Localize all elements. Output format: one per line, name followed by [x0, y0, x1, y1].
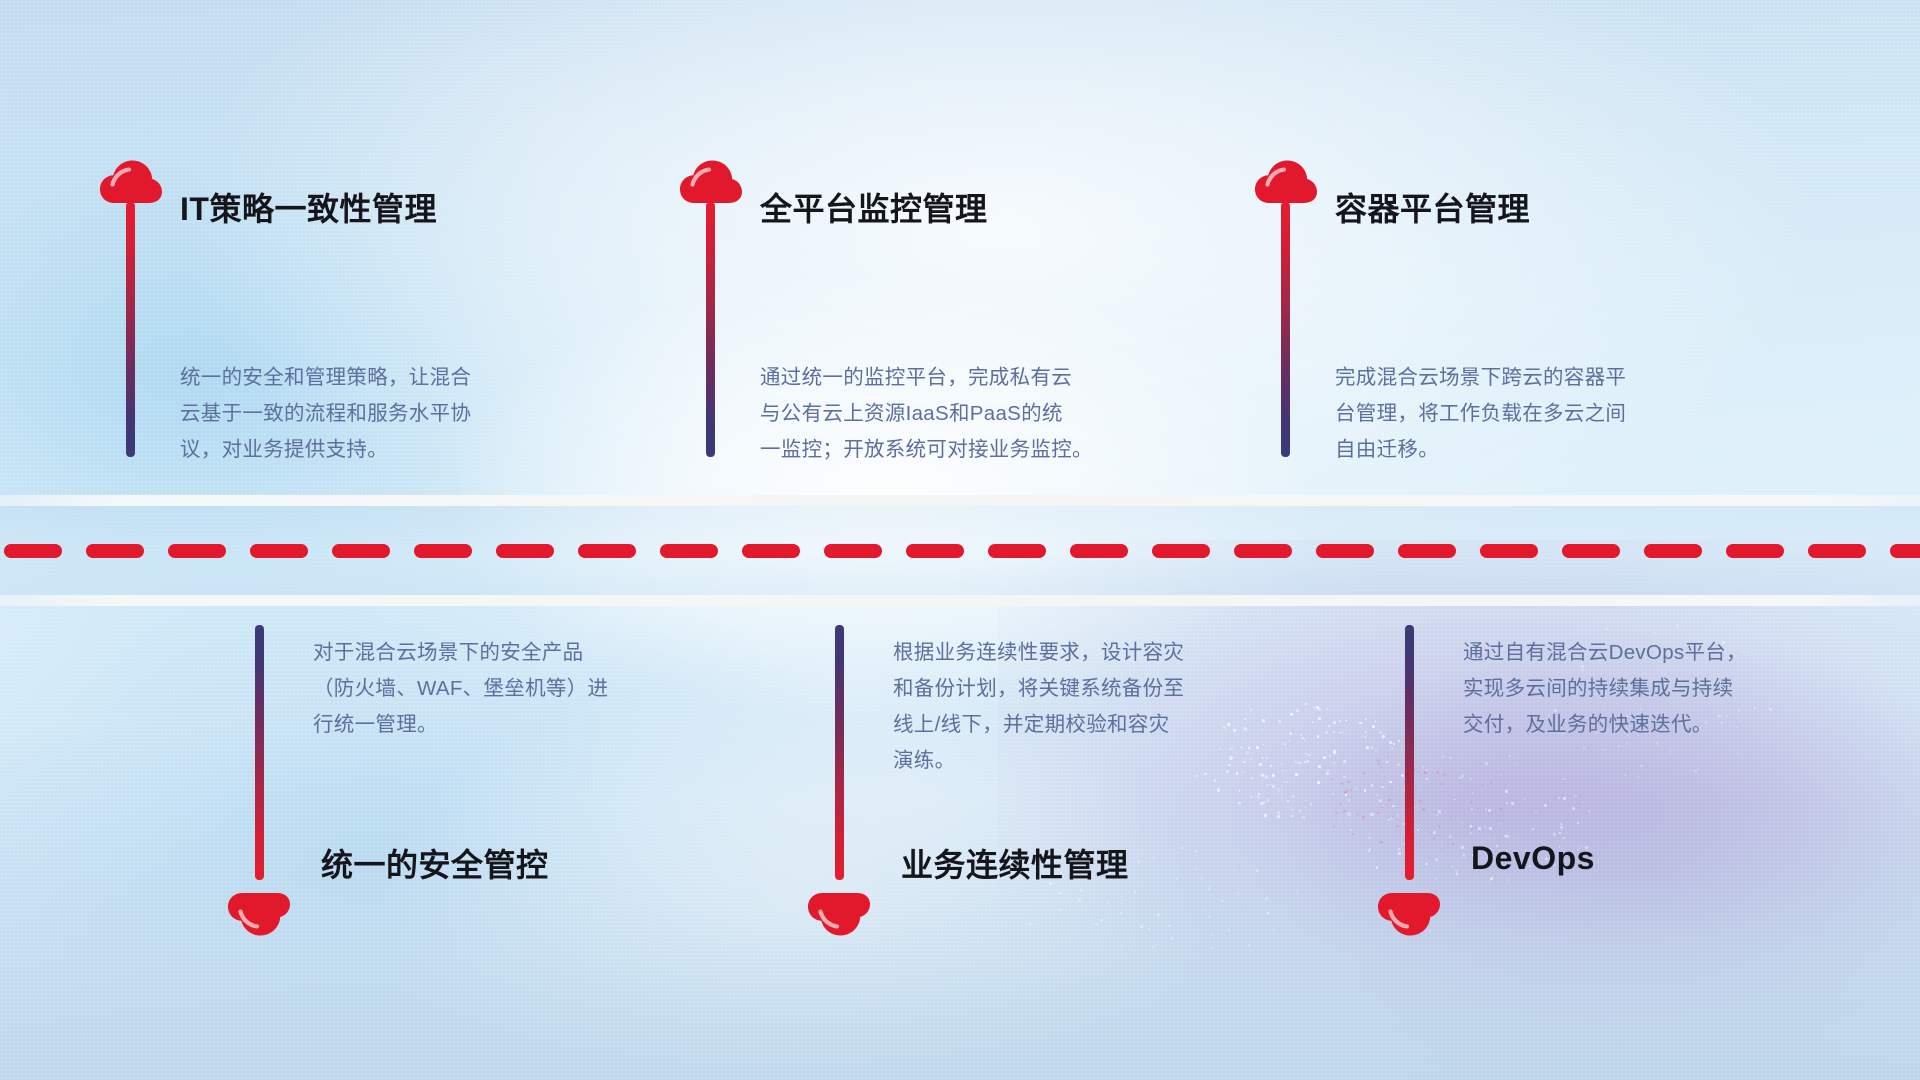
background-speck [1251, 796, 1252, 797]
background-speck [1335, 812, 1337, 814]
background-speck [1527, 834, 1528, 835]
background-speck [1373, 748, 1374, 749]
background-speck [1272, 785, 1274, 787]
background-speck [1470, 832, 1472, 834]
road-dash-segment [1890, 544, 1920, 558]
background-speck [1347, 812, 1350, 815]
road-dash-segment [86, 544, 144, 558]
background-speck [1181, 847, 1183, 849]
background-speck [1210, 946, 1213, 949]
background-speck [1248, 944, 1250, 946]
background-speck [1377, 759, 1379, 761]
background-speck [1500, 823, 1502, 825]
background-speck [1264, 814, 1267, 817]
background-speck [1016, 911, 1017, 912]
item-body: 对于混合云场景下的安全产品 （防火墙、WAF、堡垒机等）进 行统一管理。 [313, 635, 743, 743]
road-dash-segment [578, 544, 636, 558]
road-dash-segment [742, 544, 800, 558]
background-speck [1176, 878, 1178, 880]
road-dash-segment [1152, 544, 1210, 558]
background-speck [1372, 725, 1375, 728]
background-speck [1121, 902, 1123, 904]
infographic-canvas: IT策略一致性管理 统一的安全和管理策略，让混合 云基于一致的流程和服务水平协 … [0, 0, 1920, 1080]
background-speck [1323, 756, 1326, 759]
background-speck [1343, 810, 1346, 813]
background-speck [1195, 868, 1198, 871]
background-speck [1388, 819, 1390, 821]
background-speck [1565, 797, 1566, 798]
road-dash-segment [1562, 544, 1620, 558]
background-speck [1433, 831, 1436, 834]
background-speck [1558, 797, 1560, 799]
background-speck [1296, 892, 1298, 894]
item-title: 统一的安全管控 [321, 840, 549, 886]
background-speck [1178, 852, 1179, 853]
background-speck [1424, 771, 1427, 774]
background-speck [1456, 873, 1457, 874]
background-speck [1153, 856, 1155, 858]
background-speck [1263, 801, 1265, 803]
background-speck [1138, 861, 1140, 863]
background-speck [1676, 624, 1679, 627]
background-speck [1391, 747, 1393, 749]
background-speck [1364, 789, 1366, 791]
background-speck [1148, 927, 1150, 929]
background-speck [1265, 897, 1267, 899]
road-dash-segment [1726, 544, 1784, 558]
background-speck [1168, 925, 1171, 928]
cloud-pin-icon [1255, 160, 1317, 206]
background-speck [1487, 838, 1488, 839]
background-speck [1636, 772, 1638, 774]
road-dashed-center-line [0, 544, 1920, 558]
background-speck [1563, 837, 1565, 839]
road-dash-segment [1808, 544, 1866, 558]
background-speck [1485, 762, 1487, 764]
background-speck [1328, 725, 1330, 727]
background-speck [1256, 869, 1259, 872]
background-speck [1291, 815, 1293, 817]
background-speck [1287, 800, 1289, 802]
background-speck [1461, 774, 1464, 777]
background-speck [1106, 902, 1109, 905]
background-speck [1504, 835, 1506, 837]
background-speck [1490, 782, 1492, 784]
background-speck [1397, 764, 1400, 767]
background-speck [1292, 795, 1295, 798]
background-speck [1171, 937, 1172, 938]
background-speck [1577, 822, 1579, 824]
background-speck [1207, 916, 1210, 919]
road-dash-segment [988, 544, 1046, 558]
background-speck [1368, 850, 1370, 852]
background-speck [1490, 877, 1493, 880]
background-speck [1157, 913, 1159, 915]
cloud-pin-icon [228, 890, 290, 936]
road-dash-segment [1480, 544, 1538, 558]
background-speck [1433, 838, 1434, 839]
background-speck [1489, 880, 1490, 881]
background-speck [1505, 790, 1508, 793]
road-dash-segment [414, 544, 472, 558]
background-speck [1236, 892, 1239, 895]
background-speck [1220, 906, 1221, 907]
background-speck [1122, 945, 1123, 946]
item-title: DevOps [1471, 840, 1595, 877]
background-speck [1416, 844, 1417, 845]
background-speck [1460, 832, 1461, 833]
background-speck [1489, 827, 1492, 830]
item-title: 容器平台管理 [1335, 184, 1530, 230]
background-speck [1435, 858, 1438, 861]
background-speck [1345, 720, 1346, 721]
background-speck [1221, 900, 1223, 902]
background-speck [1204, 909, 1206, 911]
item-body: 通过统一的监控平台，完成私有云 与公有云上资源IaaS和PaaS的统 一监控；开… [760, 360, 1220, 468]
background-speck [1371, 784, 1374, 787]
background-speck [1640, 765, 1642, 767]
background-speck [1096, 950, 1097, 951]
background-speck [1370, 813, 1373, 816]
road-dash-segment [1316, 544, 1374, 558]
background-speck [1364, 736, 1366, 738]
background-speck [1544, 804, 1547, 807]
background-speck [1100, 919, 1103, 922]
road-dash-segment [1234, 544, 1292, 558]
background-speck [1079, 889, 1081, 891]
background-speck [1058, 892, 1060, 894]
background-speck [1618, 745, 1620, 747]
background-speck [1574, 795, 1576, 797]
item-body: 完成混合云场景下跨云的容器平 台管理，将工作负载在多云之间 自由迁移。 [1335, 360, 1785, 468]
background-speck [1217, 788, 1220, 791]
road-dash-segment [906, 544, 964, 558]
background-speck [1392, 816, 1393, 817]
background-speck [1553, 833, 1555, 835]
background-speck [1461, 846, 1464, 849]
item-title: 全平台监控管理 [760, 184, 988, 230]
cloud-pin-icon [100, 160, 162, 206]
background-speck [1535, 811, 1537, 813]
background-speck [1695, 770, 1697, 772]
road-dash-segment [1398, 544, 1456, 558]
item-title: 业务连续性管理 [901, 840, 1129, 886]
background-speck [1391, 787, 1393, 789]
background-speck [1333, 750, 1336, 753]
cloud-pin-icon [808, 890, 870, 936]
background-speck [1365, 731, 1367, 733]
background-speck [1295, 898, 1297, 900]
road-dash-segment [250, 544, 308, 558]
background-speck [1348, 799, 1350, 801]
background-speck [1270, 784, 1271, 785]
background-speck [1393, 743, 1395, 745]
road-dash-segment [1070, 544, 1128, 558]
background-speck [1419, 800, 1422, 803]
background-speck [1365, 718, 1367, 720]
background-speck [1562, 778, 1565, 781]
road-dash-segment [168, 544, 226, 558]
background-speck [1438, 810, 1441, 813]
road-edge-line-top [0, 495, 1920, 506]
background-speck [1134, 891, 1136, 893]
background-speck [1386, 761, 1388, 763]
background-speck [1532, 828, 1534, 830]
background-speck [1438, 825, 1440, 827]
background-speck [1369, 848, 1371, 850]
background-speck [1379, 731, 1382, 734]
background-speck [1382, 735, 1385, 738]
background-speck [1430, 832, 1433, 835]
background-speck [1384, 776, 1385, 777]
background-speck [1208, 887, 1210, 889]
item-body: 通过自有混合云DevOps平台， 实现多云间的持续集成与持续 交付，及业务的快速… [1463, 635, 1883, 743]
background-speck [1368, 837, 1370, 839]
cloud-pin-icon [1378, 890, 1440, 936]
background-speck [1155, 944, 1158, 947]
background-speck [1422, 808, 1425, 811]
background-speck [1327, 770, 1328, 771]
background-speck [1317, 781, 1320, 784]
item-title: IT策略一致性管理 [180, 184, 437, 230]
background-speck [1333, 722, 1335, 724]
background-speck [1495, 762, 1496, 763]
background-speck [1588, 810, 1590, 812]
background-speck [1367, 794, 1368, 795]
background-speck [1362, 816, 1365, 819]
cloud-pin-icon [680, 160, 742, 206]
item-body: 统一的安全和管理策略，让混合 云基于一致的流程和服务水平协 议，对业务提供支持。 [180, 360, 630, 468]
background-speck [1344, 791, 1347, 794]
background-speck [1500, 808, 1502, 810]
background-speck [1509, 755, 1511, 757]
background-speck [1228, 929, 1230, 931]
background-speck [1258, 793, 1260, 795]
background-speck [1059, 909, 1061, 911]
background-speck [1343, 760, 1346, 763]
background-speck [1389, 781, 1392, 784]
background-speck [1482, 784, 1483, 785]
background-speck [1379, 838, 1380, 839]
road-dash-segment [332, 544, 390, 558]
background-speck [1215, 938, 1216, 939]
road-dash-segment [1644, 544, 1702, 558]
background-speck [1391, 817, 1393, 819]
background-speck [1234, 869, 1236, 871]
background-speck [1302, 816, 1305, 819]
background-speck [1277, 811, 1280, 814]
road-dash-segment [496, 544, 554, 558]
background-speck [1449, 835, 1451, 837]
background-speck [1376, 866, 1379, 869]
background-speck [1277, 788, 1279, 790]
background-speck [1270, 903, 1271, 904]
background-speck [1417, 771, 1419, 773]
background-speck [1095, 923, 1097, 925]
background-speck [1478, 827, 1481, 830]
background-speck [1381, 841, 1383, 843]
background-speck [1359, 722, 1362, 725]
background-speck [1439, 783, 1441, 785]
background-speck [1426, 778, 1428, 780]
road-dash-segment [824, 544, 882, 558]
background-speck [1310, 803, 1312, 805]
background-speck [1443, 773, 1446, 776]
background-speck [1469, 805, 1471, 807]
background-speck [1379, 809, 1380, 810]
background-speck [1643, 768, 1644, 769]
background-speck [1422, 766, 1425, 769]
item-body: 根据业务连续性要求，设计容灾 和备份计划，将关键系统备份至 线上/线下，并定期校… [893, 635, 1323, 779]
road-dash-segment [4, 544, 62, 558]
background-speck [1119, 934, 1122, 937]
background-speck [1273, 929, 1274, 930]
road-edge-line-bottom [0, 595, 1920, 606]
background-speck [1371, 747, 1373, 749]
background-speck [1134, 890, 1135, 891]
road-dash-segment [660, 544, 718, 558]
background-speck [1238, 802, 1240, 804]
background-speck [1342, 731, 1344, 733]
background-speck [1389, 741, 1392, 744]
